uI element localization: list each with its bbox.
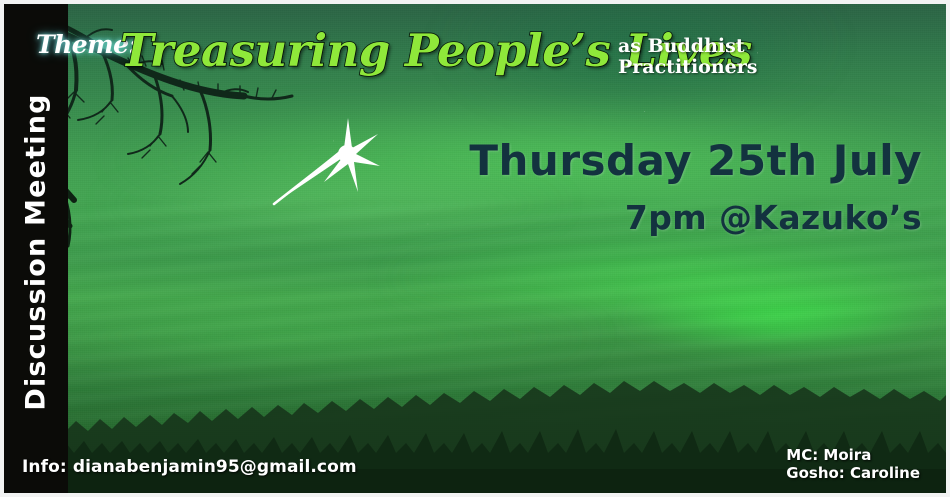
credit-mc: MC: Moira	[786, 446, 920, 465]
subtitle-line-1: as Buddhist	[618, 36, 757, 57]
credit-gosho: Gosho: Caroline	[786, 464, 920, 483]
event-date: Thursday 25th July	[469, 136, 922, 185]
sidebar-label-discussion-meeting: Discussion Meeting	[21, 93, 52, 410]
background-photo	[4, 4, 946, 493]
poster-canvas: Discussion Meeting Theme: Treasuring Peo…	[0, 0, 950, 497]
shooting-star-icon	[266, 100, 396, 210]
event-time-venue: 7pm @Kazuko’s	[625, 198, 922, 237]
subtitle-block: as Buddhist Practitioners	[618, 36, 757, 79]
left-black-sidebar: Discussion Meeting	[4, 4, 68, 493]
credits-block: MC: Moira Gosho: Caroline	[786, 446, 920, 484]
subtitle-line-2: Practitioners	[618, 57, 757, 78]
contact-info[interactable]: Info: dianabenjamin95@gmail.com	[22, 457, 357, 477]
